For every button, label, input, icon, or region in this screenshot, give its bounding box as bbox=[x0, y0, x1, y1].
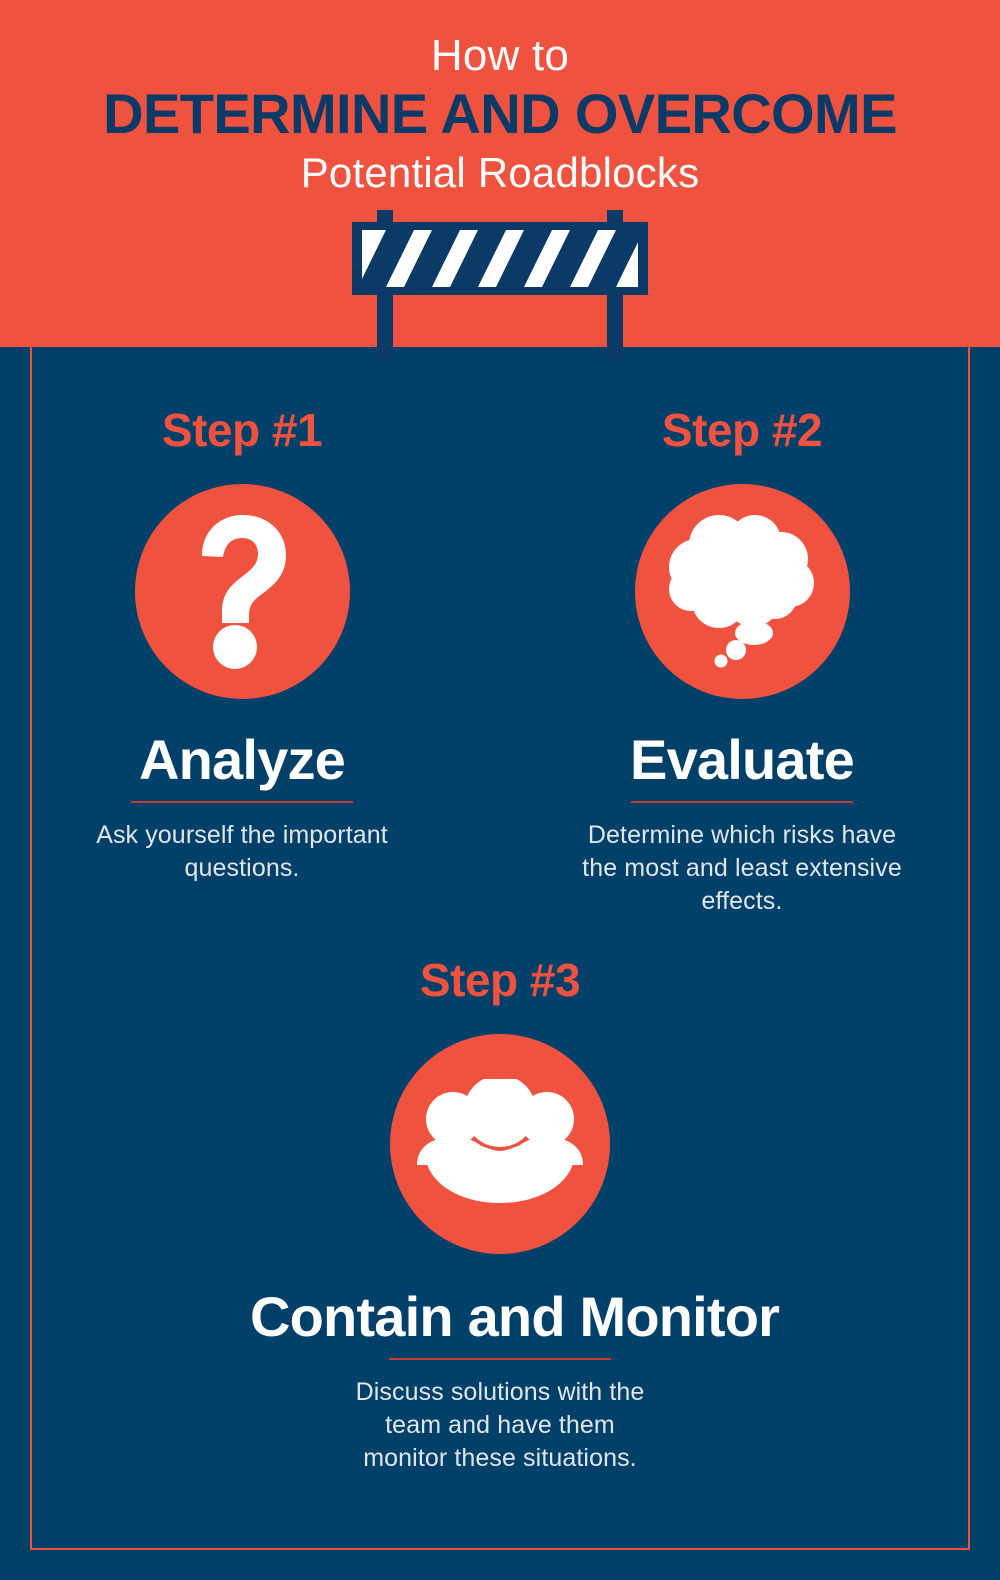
step-3-description: Discuss solutions with the team and have… bbox=[250, 1376, 750, 1475]
step-card-1: Step #1 Analyze Ask yourself the importa… bbox=[42, 405, 442, 885]
step-1-divider bbox=[131, 801, 353, 803]
thought-cloud-icon bbox=[657, 509, 827, 674]
infographic-poster: How to DETERMINE AND OVERCOME Potential … bbox=[0, 0, 1000, 1580]
question-mark-icon bbox=[182, 509, 302, 674]
step-card-3: Step #3 bbox=[250, 955, 750, 1475]
step-2-description: Determine which risks have the most and … bbox=[542, 819, 942, 918]
step-3-divider bbox=[389, 1358, 611, 1360]
step-3-icon-circle bbox=[390, 1034, 610, 1254]
title-line-subtitle: Potential Roadblocks bbox=[0, 147, 1000, 200]
title-block: How to DETERMINE AND OVERCOME Potential … bbox=[0, 30, 1000, 200]
step-3-label: Step #3 bbox=[250, 955, 750, 1006]
step-2-title: Evaluate bbox=[542, 729, 942, 792]
step-2-icon-circle bbox=[635, 484, 850, 699]
step-1-description: Ask yourself the important questions. bbox=[42, 819, 442, 885]
group-of-people-icon bbox=[415, 1079, 585, 1209]
step-1-title: Analyze bbox=[42, 729, 442, 792]
title-line-how-to: How to bbox=[0, 30, 1000, 81]
step-1-icon-circle bbox=[135, 484, 350, 699]
step-1-label: Step #1 bbox=[42, 405, 442, 456]
step-2-label: Step #2 bbox=[542, 405, 942, 456]
road-barricade-icon bbox=[340, 200, 660, 360]
step-3-title: Contain and Monitor bbox=[250, 1286, 750, 1349]
title-line-main: DETERMINE AND OVERCOME bbox=[0, 81, 1000, 147]
step-2-divider bbox=[631, 801, 853, 803]
step-card-2: Step #2 bbox=[542, 405, 942, 918]
